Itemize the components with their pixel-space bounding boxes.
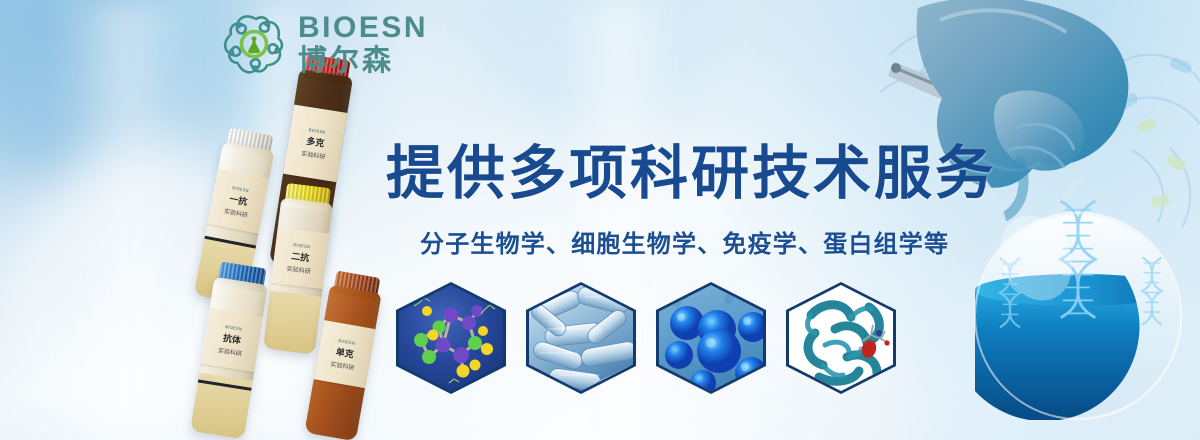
- vial-label: BIOESN 抗体 实验科研: [199, 308, 265, 372]
- hexagon-molecular-network[interactable]: [396, 282, 506, 394]
- background-light-stripe: [55, 0, 205, 440]
- hexagon-inner: [529, 285, 633, 391]
- vial-label-sub: 实验科研: [301, 148, 326, 161]
- hexagon-inner: [789, 285, 893, 391]
- lab-artwork: [870, 0, 1200, 440]
- hexagon-cells[interactable]: [656, 282, 766, 394]
- vial-label-name: 抗体: [222, 330, 242, 346]
- vial-label: BIOESN 多克 实验科研: [281, 104, 350, 182]
- vial-label-sub: 实验科研: [330, 358, 355, 371]
- brand-name-cn: 博尔森: [298, 46, 428, 75]
- banner-headline: 提供多项科研技术服务: [386, 126, 996, 210]
- hexagon-inner: [659, 285, 763, 391]
- brand-name-en: BIOESN: [298, 13, 428, 43]
- vial-label-name: 一抗: [228, 191, 248, 207]
- vial-label-sub: 实验科研: [286, 263, 311, 275]
- vial-label-brand: BIOESN: [293, 242, 310, 249]
- vial-label-name: 二抗: [291, 249, 310, 264]
- vial-label-sub: 实验科研: [223, 205, 248, 218]
- hexagon-inner: [399, 285, 503, 391]
- vial-liquid: [263, 291, 322, 355]
- hexagon-protein[interactable]: [786, 282, 896, 394]
- vial-label-sub: 实验科研: [218, 345, 243, 358]
- flask-glyph-icon: [248, 37, 260, 53]
- promo-banner: BIOESN 多克 实验科研 BIOESN 一抗 实验科研 BIOESN 二抗: [0, 0, 1200, 440]
- vial-label-name: 单克: [335, 344, 355, 360]
- hexagon-bacteria[interactable]: [526, 282, 636, 394]
- bioesn-swirl-flask-logo-icon: [218, 8, 290, 80]
- service-hexagon-row: [396, 282, 896, 394]
- brand-wordmark: BIOESN 博尔森: [298, 13, 428, 75]
- vial-label-name: 多克: [306, 134, 326, 150]
- banner-subheadline: 分子生物学、细胞生物学、免疫学、蛋白组学等: [420, 224, 949, 259]
- vial-label: BIOESN 单克 实验科研: [312, 320, 378, 389]
- round-bottom-flask-icon: [975, 201, 1181, 420]
- vial-label: BIOESN 二抗 实验科研: [269, 227, 332, 289]
- brand-logo[interactable]: BIOESN 博尔森: [218, 8, 428, 80]
